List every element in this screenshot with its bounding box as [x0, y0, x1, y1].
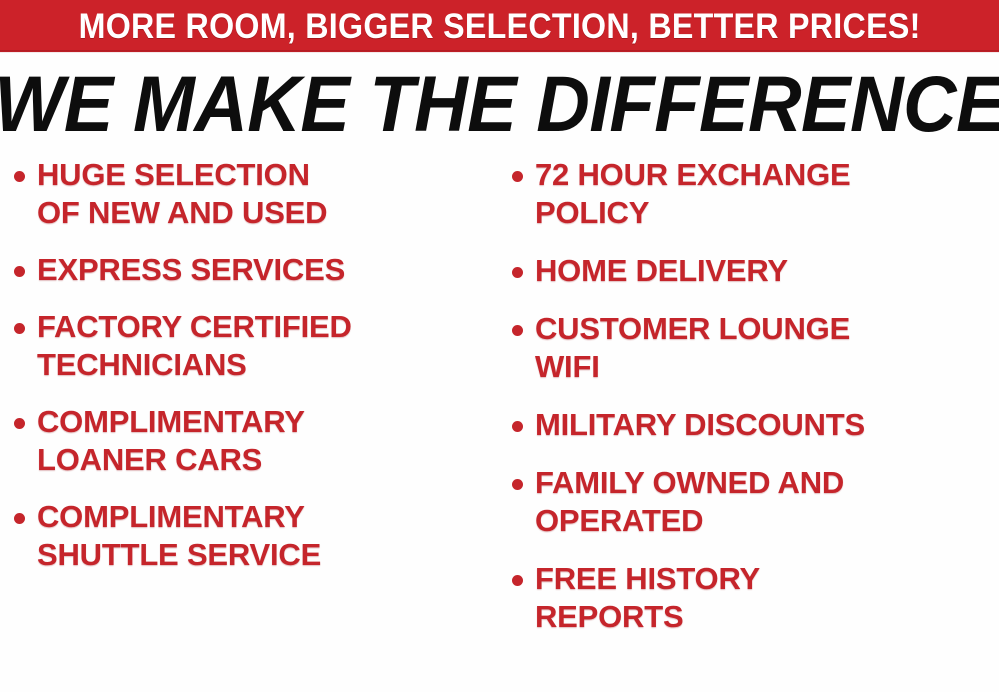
benefits-column-left: HUGE SELECTION OF NEW AND USED EXPRESS S… [14, 156, 500, 593]
list-item-label: COMPLIMENTARY SHUTTLE SERVICE [37, 498, 321, 574]
bullet-dot-icon [512, 267, 523, 278]
bullet-dot-icon [14, 171, 25, 182]
dealership-promo-poster: MORE ROOM, BIGGER SELECTION, BETTER PRIC… [0, 0, 999, 692]
bullet-dot-icon [14, 418, 25, 429]
banner-headline-text: MORE ROOM, BIGGER SELECTION, BETTER PRIC… [79, 9, 921, 44]
list-item: HUGE SELECTION OF NEW AND USED [14, 156, 500, 232]
bullet-dot-icon [14, 513, 25, 524]
main-headline: WE MAKE THE DIFFERENCE [0, 65, 999, 143]
list-item-label: EXPRESS SERVICES [37, 251, 345, 289]
list-item: MILITARY DISCOUNTS [512, 406, 999, 444]
banner-bottom-shadow [0, 50, 999, 53]
list-item-label: 72 HOUR EXCHANGE POLICY [535, 156, 850, 232]
list-item: EXPRESS SERVICES [14, 251, 500, 289]
list-item-label: COMPLIMENTARY LOANER CARS [37, 403, 305, 479]
bullet-dot-icon [512, 325, 523, 336]
bullet-dot-icon [14, 266, 25, 277]
list-item-label: HOME DELIVERY [535, 252, 788, 290]
list-item-label: FREE HISTORY REPORTS [535, 560, 760, 636]
list-item: 72 HOUR EXCHANGE POLICY [512, 156, 999, 232]
list-item-label: FAMILY OWNED AND OPERATED [535, 464, 844, 540]
bullet-dot-icon [512, 421, 523, 432]
bullet-dot-icon [512, 575, 523, 586]
bullet-dot-icon [14, 323, 25, 334]
list-item: FAMILY OWNED AND OPERATED [512, 464, 999, 540]
list-item-label: MILITARY DISCOUNTS [535, 406, 865, 444]
list-item: FACTORY CERTIFIED TECHNICIANS [14, 308, 500, 384]
benefits-columns: HUGE SELECTION OF NEW AND USED EXPRESS S… [0, 156, 999, 692]
list-item: HOME DELIVERY [512, 252, 999, 290]
list-item-label: FACTORY CERTIFIED TECHNICIANS [37, 308, 352, 384]
benefits-column-right: 72 HOUR EXCHANGE POLICY HOME DELIVERY CU… [512, 156, 999, 656]
list-item-label: HUGE SELECTION OF NEW AND USED [37, 156, 327, 232]
main-headline-container: WE MAKE THE DIFFERENCE [0, 64, 999, 144]
list-item-label: CUSTOMER LOUNGE WIFI [535, 310, 850, 386]
list-item: CUSTOMER LOUNGE WIFI [512, 310, 999, 386]
list-item: FREE HISTORY REPORTS [512, 560, 999, 636]
bullet-dot-icon [512, 479, 523, 490]
bullet-dot-icon [512, 171, 523, 182]
list-item: COMPLIMENTARY SHUTTLE SERVICE [14, 498, 500, 574]
top-banner: MORE ROOM, BIGGER SELECTION, BETTER PRIC… [0, 0, 999, 52]
list-item: COMPLIMENTARY LOANER CARS [14, 403, 500, 479]
